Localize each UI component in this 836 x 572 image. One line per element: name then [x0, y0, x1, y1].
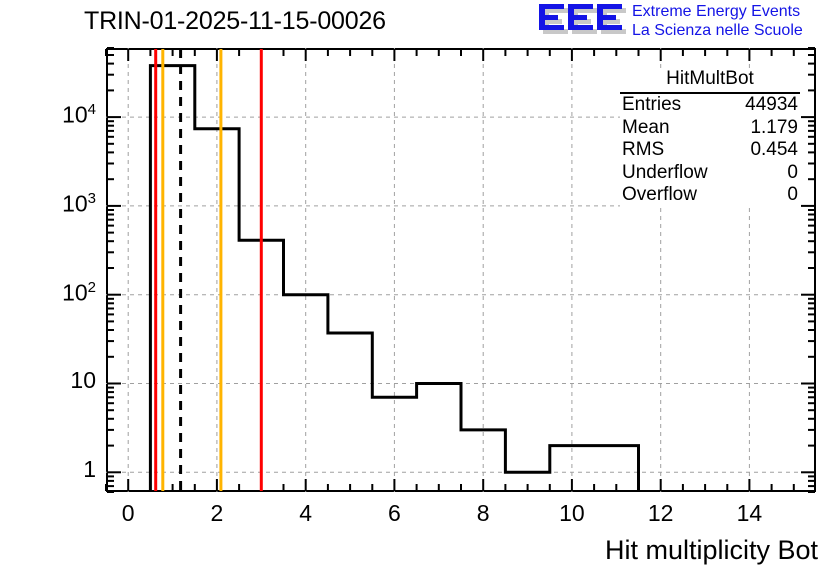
eee-logo-line2: La Scienza nelle Scuole — [632, 22, 803, 41]
stats-key: Overflow — [622, 184, 697, 207]
x-tick-label: 8 — [463, 500, 503, 527]
y-tick-label: 10 — [70, 367, 96, 394]
eee-logo-mark-icon — [536, 4, 626, 38]
x-tick-label: 4 — [286, 500, 326, 527]
stats-row: RMS0.454 — [620, 139, 800, 162]
stats-value: 1.179 — [750, 117, 798, 140]
x-tick-label: 10 — [552, 500, 592, 527]
stats-row: Mean1.179 — [620, 117, 800, 140]
x-axis-title: Hit multiplicity Bot — [605, 535, 818, 566]
stats-key: RMS — [622, 139, 664, 162]
x-tick-label: 6 — [374, 500, 414, 527]
stats-value: 0 — [787, 162, 798, 185]
root-canvas: TRIN-01-2025-11-15-00026 — [0, 0, 836, 572]
y-tick-label: 104 — [62, 101, 96, 129]
stats-key: Entries — [622, 94, 681, 117]
stats-key: Mean — [622, 117, 670, 140]
x-tick-label: 12 — [641, 500, 681, 527]
stats-title: HitMultBot — [620, 68, 800, 94]
page-title: TRIN-01-2025-11-15-00026 — [84, 7, 386, 36]
eee-logo: Extreme Energy Events La Scienza nelle S… — [536, 2, 832, 42]
stats-key: Underflow — [622, 162, 708, 185]
stats-value: 0.454 — [750, 139, 798, 162]
stats-value: 44934 — [745, 94, 798, 117]
stats-rows: Entries44934Mean1.179RMS0.454Underflow0O… — [620, 94, 800, 207]
x-tick-label: 0 — [108, 500, 148, 527]
y-tick-label: 1 — [83, 456, 96, 483]
eee-logo-line1: Extreme Energy Events — [632, 3, 803, 22]
stats-value: 0 — [787, 184, 798, 207]
stats-row: Underflow0 — [620, 162, 800, 185]
eee-logo-text: Extreme Energy Events La Scienza nelle S… — [632, 3, 803, 40]
x-tick-label: 14 — [729, 500, 769, 527]
y-tick-label: 103 — [62, 190, 96, 218]
stats-row: Entries44934 — [620, 94, 800, 117]
stats-row: Overflow0 — [620, 184, 800, 207]
x-tick-label: 2 — [197, 500, 237, 527]
y-tick-label: 102 — [62, 279, 96, 307]
stats-box: HitMultBot Entries44934Mean1.179RMS0.454… — [620, 68, 800, 207]
